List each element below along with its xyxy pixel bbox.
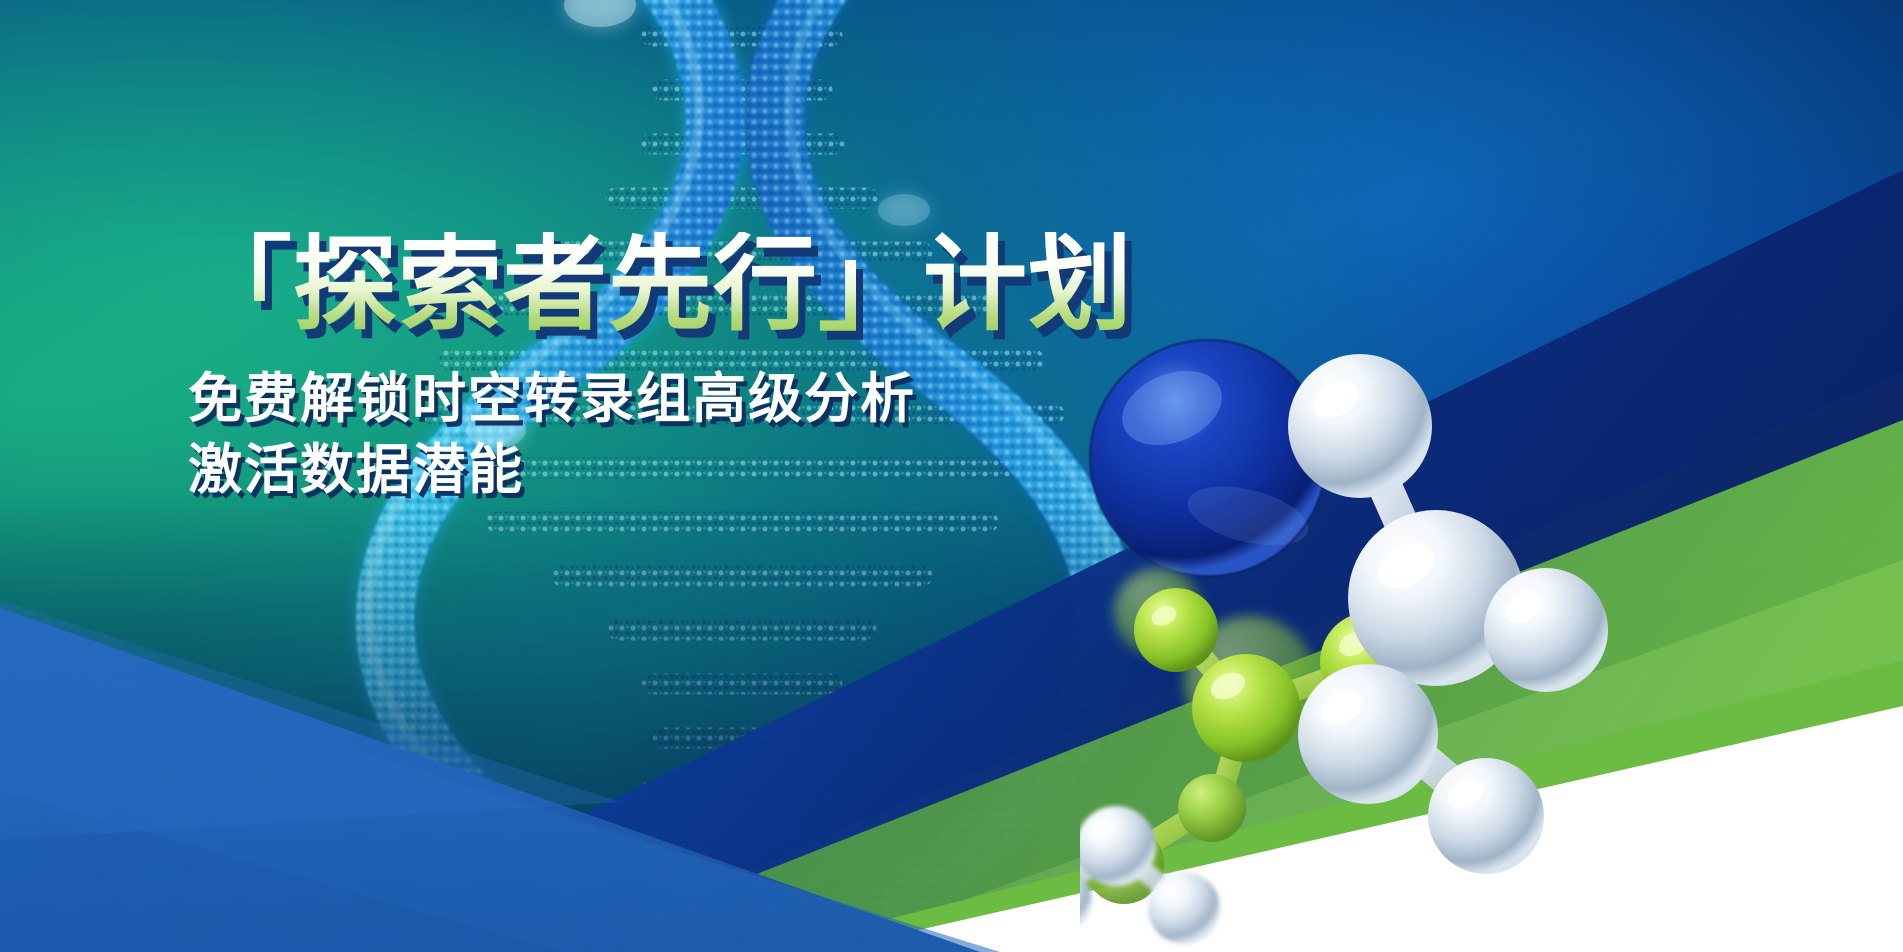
- subtitle-line-2: 激活数据潜能: [188, 435, 1188, 506]
- glass-molecule-model: [1288, 354, 1608, 874]
- subtitle-line-1: 免费解锁时空转录组高级分析: [188, 364, 1188, 435]
- blue-triangle-highlight: [0, 600, 620, 840]
- promo-banner: 「探索者先行」计划 免费解锁时空转录组高级分析 激活数据潜能: [0, 0, 1903, 952]
- molecule-cluster: [1080, 330, 1903, 952]
- page-title: 「探索者先行」计划: [188, 232, 1188, 338]
- headline-block: 「探索者先行」计划 免费解锁时空转录组高级分析 激活数据潜能: [188, 232, 1188, 507]
